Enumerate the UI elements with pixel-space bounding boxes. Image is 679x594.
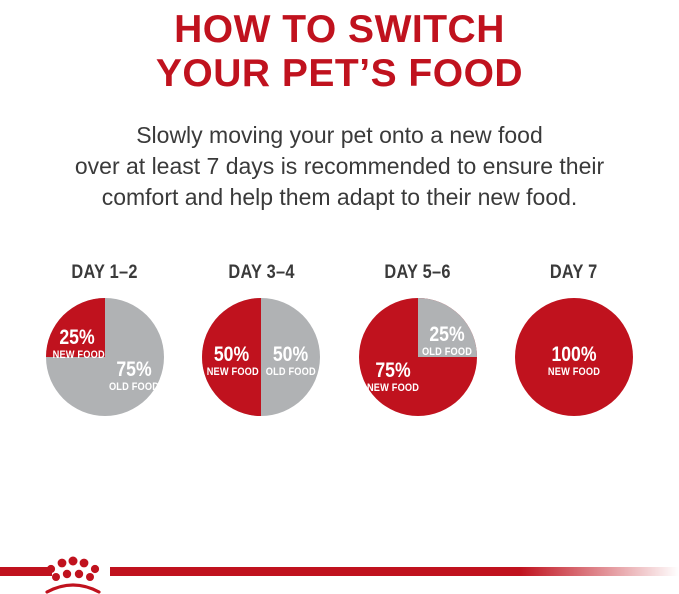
slice-old-food-3: [418, 298, 477, 357]
pie-graphic-2: 50% NEW FOOD 50% OLD FOOD: [202, 298, 320, 416]
slice-new-food-1: [46, 298, 105, 357]
pie-svg-2: [202, 298, 320, 416]
intro-paragraph: Slowly moving your pet onto a new food o…: [0, 120, 679, 213]
pie-svg-4: [515, 298, 633, 416]
pie-chart-day-1-2: DAY 1–2 25% NEW FOOD 75% OLD FOOD: [30, 262, 180, 416]
footer: [0, 548, 679, 594]
pie-chart-row: DAY 1–2 25% NEW FOOD 75% OLD FOOD DAY 3–…: [0, 262, 679, 416]
pie-svg-1: [46, 298, 164, 416]
intro-line-3: comfort and help them adapt to their new…: [8, 182, 671, 213]
slice-new-food-4: [515, 298, 633, 416]
page-title-line-1: HOW TO SWITCH: [0, 8, 679, 52]
pie-graphic-1: 25% NEW FOOD 75% OLD FOOD: [46, 298, 164, 416]
intro-line-1: Slowly moving your pet onto a new food: [8, 120, 671, 151]
page-title-line-2: YOUR PET’S FOOD: [0, 52, 679, 96]
pie-graphic-3: 25% OLD FOOD 75% NEW FOOD: [359, 298, 477, 416]
day-label-4: DAY 7: [550, 262, 598, 284]
day-label-3: DAY 5–6: [384, 262, 450, 284]
pie-chart-day-7: DAY 7 100% NEW FOOD: [499, 262, 649, 416]
pie-chart-day-3-4: DAY 3–4 50% NEW FOOD 50% OLD FOOD: [186, 262, 336, 416]
day-label-1: DAY 1–2: [72, 262, 138, 284]
pie-graphic-4: 100% NEW FOOD: [515, 298, 633, 416]
crown-icon: [42, 552, 104, 594]
pie-svg-3: [359, 298, 477, 416]
pie-chart-day-5-6: DAY 5–6 25% OLD FOOD 75% NEW FOOD: [343, 262, 493, 416]
intro-line-2: over at least 7 days is recommended to e…: [8, 151, 671, 182]
page-title: HOW TO SWITCH YOUR PET’S FOOD: [0, 0, 679, 96]
slice-new-food-2: [202, 298, 261, 416]
footer-bar-right: [110, 567, 679, 576]
day-label-2: DAY 3–4: [228, 262, 294, 284]
